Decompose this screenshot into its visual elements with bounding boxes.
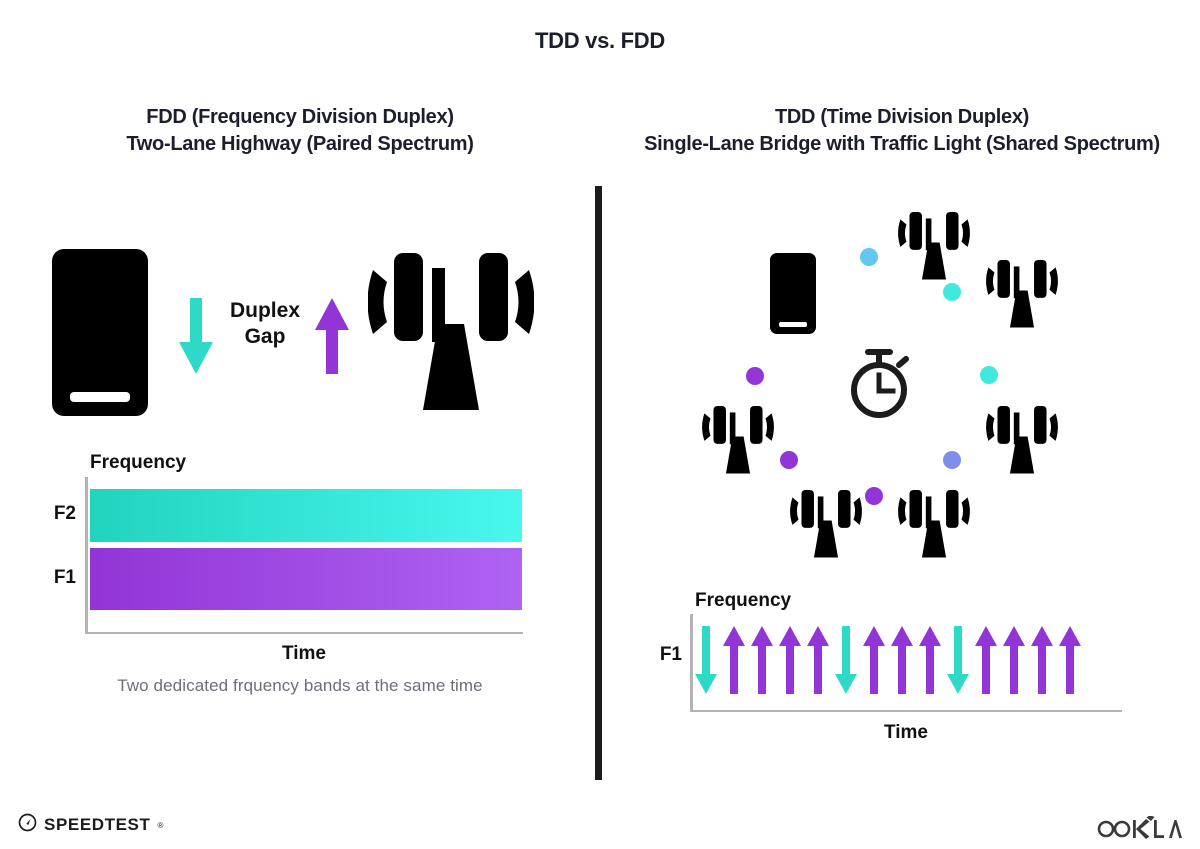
fdd-band-f1: [90, 548, 522, 610]
dot-5-icon: [865, 487, 883, 505]
arrow-up-icon: [1058, 624, 1082, 698]
dot-1-icon: [860, 248, 878, 266]
fdd-spectrum-chart: Frequency F2 F1 Time: [40, 455, 560, 660]
arrow-up-icon: [778, 624, 802, 698]
dot-7-icon: [746, 367, 764, 385]
tdd-heading-line-1: TDD (Time Division Duplex): [775, 106, 1029, 128]
fdd-y-axis-line: [85, 477, 88, 634]
tdd-x-axis-title: Time: [690, 722, 1122, 744]
tdd-timeslot-chart: Frequency F1 Time: [648, 592, 1158, 760]
fdd-x-axis-title: Time: [85, 643, 523, 665]
arrow-up-icon: [722, 624, 746, 698]
stopwatch-icon: [845, 345, 917, 421]
fdd-tick-label-f2: F2: [38, 503, 76, 525]
panel-divider: [595, 186, 602, 780]
tdd-heading-line-2: Single-Lane Bridge with Traffic Light (S…: [612, 131, 1192, 158]
tdd-y-axis-line: [690, 614, 693, 712]
tdd-panel-heading: TDD (Time Division Duplex) Single-Lane B…: [612, 104, 1192, 158]
speedtest-logo: SPEEDTEST ®: [18, 813, 163, 837]
fdd-panel-heading: FDD (Frequency Division Duplex) Two-Lane…: [20, 104, 580, 158]
duplex-gap-group: Duplex Gap: [170, 292, 355, 380]
cell-tower-icon: [702, 403, 774, 477]
dot-6-icon: [780, 451, 798, 469]
arrow-down-icon: [694, 624, 718, 698]
arrow-up-icon: [1030, 624, 1054, 698]
cell-tower-icon: [368, 246, 534, 418]
dot-2-icon: [943, 283, 961, 301]
speedtest-wordmark: SPEEDTEST: [44, 815, 150, 835]
cell-tower-icon: [986, 257, 1058, 331]
dot-3-icon: [980, 366, 998, 384]
page-title: TDD vs. FDD: [0, 28, 1200, 54]
ookla-logo: [1096, 816, 1182, 845]
arrow-up-icon: [890, 624, 914, 698]
mobile-phone-icon: [52, 249, 148, 416]
infographic-canvas: TDD vs. FDD FDD (Frequency Division Dupl…: [0, 0, 1200, 849]
arrow-up-icon: [862, 624, 886, 698]
arrow-up-icon: [750, 624, 774, 698]
fdd-x-axis-line: [85, 632, 523, 634]
duplex-gap-label-line-1: Duplex: [230, 299, 300, 322]
arrow-up-icon: [806, 624, 830, 698]
arrow-up-icon: [1002, 624, 1026, 698]
duplex-gap-label-line-2: Gap: [245, 325, 286, 348]
cell-tower-icon: [790, 487, 862, 561]
mobile-phone-icon: [770, 253, 816, 334]
fdd-caption: Two dedicated frquency bands at the same…: [20, 676, 580, 696]
fdd-heading-line-2: Two-Lane Highway (Paired Spectrum): [20, 131, 580, 158]
cell-tower-icon: [898, 487, 970, 561]
arrow-up-icon: [974, 624, 998, 698]
fdd-band-f2: [90, 489, 522, 542]
tdd-y-axis-title: Frequency: [695, 590, 791, 612]
speedtest-trademark: ®: [157, 821, 163, 830]
fdd-heading-line-1: FDD (Frequency Division Duplex): [146, 106, 453, 128]
fdd-y-axis-title: Frequency: [90, 452, 186, 474]
phone-home-bar: [779, 322, 807, 327]
arrow-down-icon: [834, 624, 858, 698]
cell-tower-icon: [986, 403, 1058, 477]
ookla-mark-icon: [1096, 816, 1182, 845]
arrow-up-icon: [918, 624, 942, 698]
duplex-gap-label: Duplex Gap: [224, 298, 306, 349]
speedometer-icon: [18, 813, 37, 837]
tdd-x-axis-line: [690, 710, 1122, 712]
arrow-down-icon: [178, 298, 214, 374]
phone-home-bar: [70, 392, 130, 402]
tdd-slot-arrows: [694, 624, 1114, 698]
cell-tower-icon: [898, 209, 970, 283]
arrow-down-icon: [946, 624, 970, 698]
fdd-tick-label-f1: F1: [38, 567, 76, 589]
tdd-tick-label-f1: F1: [644, 644, 682, 666]
arrow-up-icon: [314, 298, 350, 374]
dot-4-icon: [943, 451, 961, 469]
